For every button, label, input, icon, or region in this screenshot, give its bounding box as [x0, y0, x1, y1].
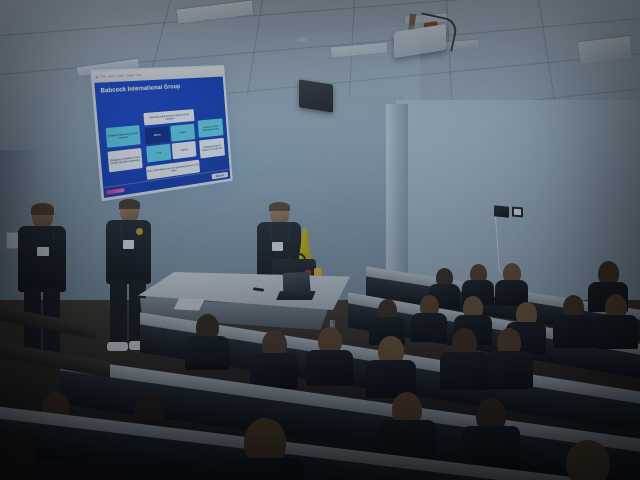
screen-frame: File Home Insert Design View Babcock Int… — [90, 65, 232, 201]
slide-box-marine: Marine — [145, 126, 170, 144]
presenter-2-hair — [119, 199, 140, 209]
slide-box-top: Delivering critical services to defence … — [143, 109, 194, 125]
smoke-detector-icon — [294, 36, 310, 43]
slide-box-nuclear: Nuclear — [172, 141, 197, 159]
wall-speaker — [299, 79, 333, 112]
toolbar-item-view[interactable]: View — [137, 74, 142, 77]
lecture-room-photo: File Home Insert Design View Babcock Int… — [0, 0, 640, 480]
slide-title: Babcock International Group — [100, 83, 193, 96]
wall-power-socket — [494, 205, 509, 217]
toolbar-dot-icon — [96, 76, 99, 79]
laptop-keyboard — [276, 291, 316, 300]
audience-body — [440, 352, 489, 390]
audience-body — [228, 458, 304, 480]
slide-canvas: Babcock International Group Delivering c… — [94, 77, 230, 198]
presenter-2-leg — [110, 280, 127, 346]
toolbar-item-insert[interactable]: Insert — [117, 75, 124, 78]
slide-box-right-1: Services in critical capability and valu… — [198, 118, 224, 137]
audience-body — [594, 315, 638, 349]
slide-box-left-2: Employing a workforce of over 26,000 spe… — [108, 148, 143, 172]
slide-box-land: Land — [146, 144, 171, 163]
presenter-1-lanyard — [33, 228, 54, 249]
audience-body — [185, 336, 229, 370]
audience-body — [306, 350, 353, 386]
audience-body — [250, 353, 298, 389]
presenter-2-emblem — [136, 228, 143, 235]
presenter-3-hair — [269, 202, 290, 211]
audience-body — [411, 313, 447, 342]
audience-body — [486, 351, 533, 389]
presenter-1-hair — [31, 203, 54, 215]
audience-head — [566, 440, 610, 480]
wall-socket-plate — [512, 207, 523, 218]
slide-box-right-2: Strategic through-life support to our cu… — [199, 138, 225, 159]
presenter-1-badge — [37, 247, 49, 256]
presenter-2-shoe — [107, 342, 128, 351]
presenter-3-badge — [272, 242, 283, 251]
toolbar-item-home[interactable]: Home — [108, 75, 115, 78]
audience-head — [0, 434, 36, 480]
toolbar-item-design[interactable]: Design — [126, 74, 134, 77]
audience-body — [462, 426, 520, 470]
slide-box-aviation: Aviation — [170, 124, 195, 142]
presenter-2-badge — [123, 240, 134, 249]
toolbar-item-file[interactable]: File — [101, 75, 105, 78]
loose-papers — [174, 298, 205, 310]
projection-screen: File Home Insert Design View Babcock Int… — [90, 65, 232, 201]
slide-box-left-1: A leading engineering services company — [106, 125, 141, 148]
presenter-3-lanyard — [270, 224, 290, 244]
audience-body — [553, 315, 594, 348]
